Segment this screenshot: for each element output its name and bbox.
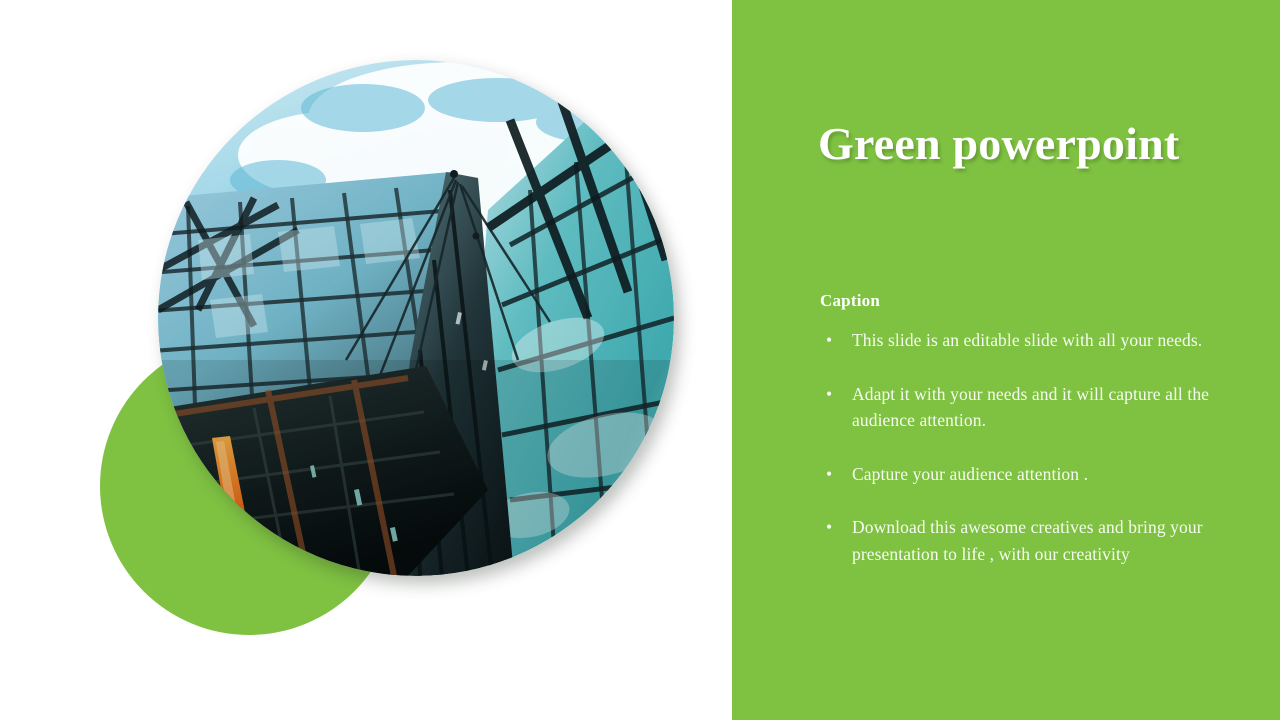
bullet-dot-icon: • [826, 461, 832, 488]
caption-heading: Caption [820, 291, 880, 311]
bullet-item: • Capture your audience attention . [820, 461, 1232, 488]
bullet-dot-icon: • [826, 514, 832, 541]
bullet-dot-icon: • [826, 381, 832, 408]
bullet-text: Adapt it with your needs and it will cap… [852, 384, 1209, 431]
bullet-dot-icon: • [826, 327, 832, 354]
content-panel: Green powerpoint Caption • This slide is… [732, 0, 1280, 720]
bullet-text: Download this awesome creatives and brin… [852, 517, 1203, 564]
bullet-item: • Adapt it with your needs and it will c… [820, 381, 1232, 434]
bullet-list: • This slide is an editable slide with a… [820, 327, 1232, 568]
slide-title: Green powerpoint [818, 112, 1238, 175]
bullet-text: This slide is an editable slide with all… [852, 330, 1202, 350]
graphics-area [0, 0, 732, 720]
bullet-item: • This slide is an editable slide with a… [820, 327, 1232, 354]
slide: Green powerpoint Caption • This slide is… [0, 0, 1280, 720]
bullet-item: • Download this awesome creatives and br… [820, 514, 1232, 567]
building-photo-circle [158, 60, 674, 576]
bullet-text: Capture your audience attention . [852, 464, 1088, 484]
building-photo-illustration [158, 60, 674, 576]
